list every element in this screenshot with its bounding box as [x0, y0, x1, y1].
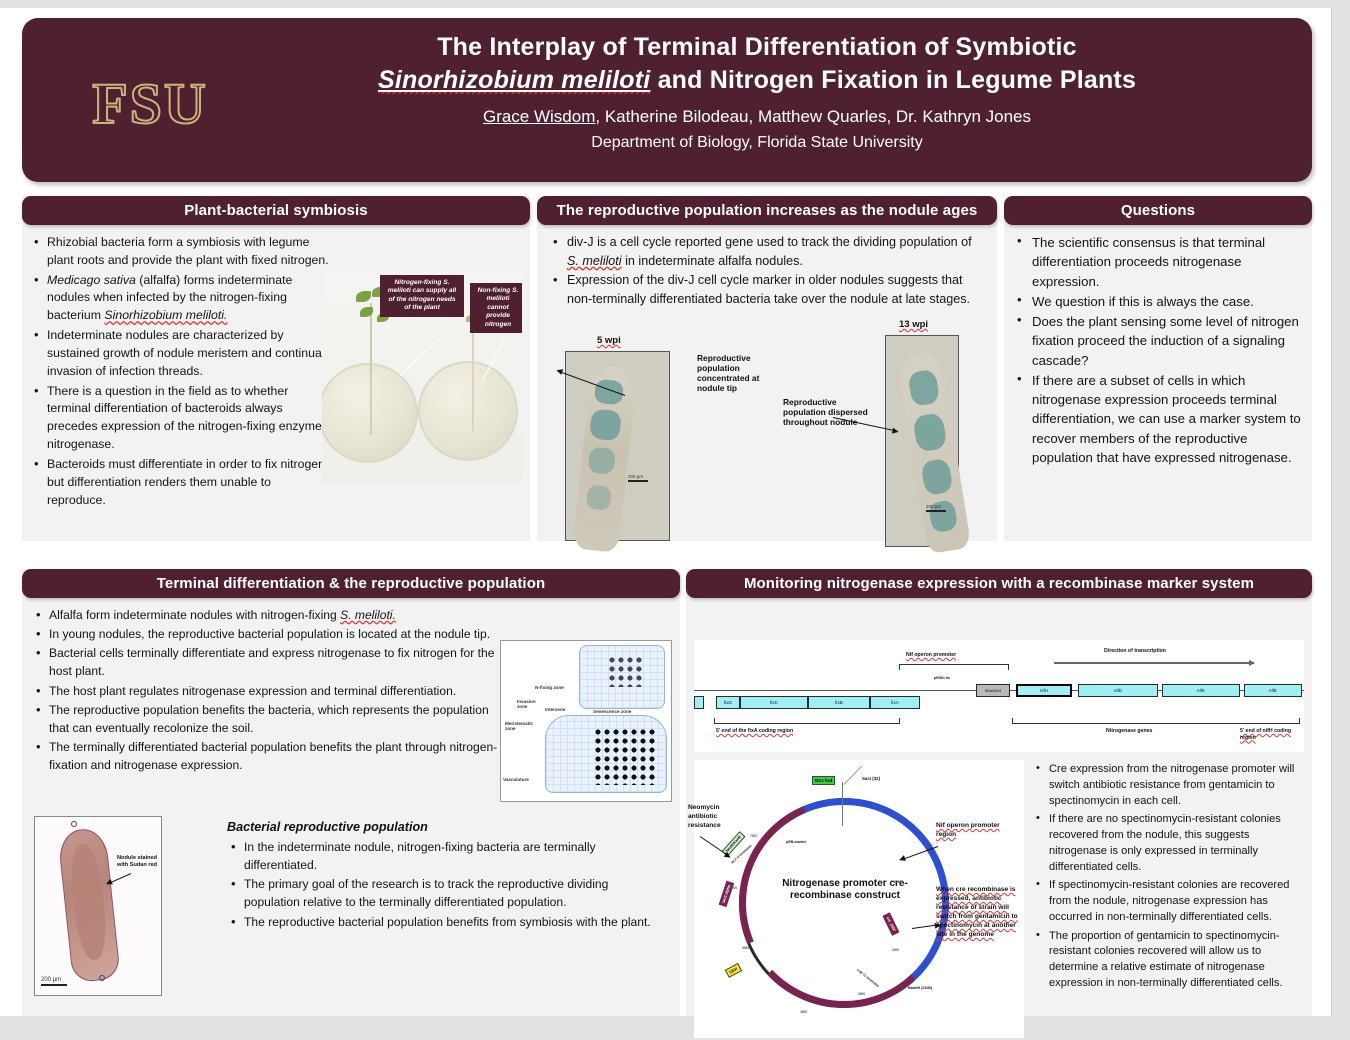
tag-bamHI: BamHI (2349)	[908, 986, 932, 991]
list-item: The primary goal of the research is to t…	[227, 875, 657, 911]
gene-box-nifE: nifE	[1244, 684, 1302, 697]
panel-plant-bacterial-symbiosis: Plant-bacterial symbiosis Rhizobial bact…	[22, 196, 530, 541]
teal-stain	[589, 408, 622, 441]
plant-root	[370, 373, 372, 435]
list-item: In young nodules, the reproductive bacte…	[32, 625, 512, 643]
panel1-body: Rhizobial bacteria form a symbiosis with…	[22, 225, 530, 517]
nitrogenase-genes-label: Nitrogenase genes	[1106, 728, 1152, 735]
poster-title-banner: FSU The Interplay of Terminal Differenti…	[22, 18, 1312, 182]
gene-box-fixB: fixB	[808, 696, 870, 709]
tag-m13-fwd: M13 fwd	[812, 776, 835, 785]
panel3-heading: Questions	[1004, 196, 1312, 225]
nif-promoter-brace	[899, 664, 1009, 670]
sacI-leader2	[844, 765, 863, 784]
plasmid-map-diagram: Nitrogenase promoter cre-recombinase con…	[694, 760, 1024, 1038]
panel5-body: Nif operon promoter Direction of transcr…	[686, 598, 1312, 612]
tick-6000: 6000	[730, 886, 737, 890]
nodule-section-13wpi	[897, 350, 972, 554]
poster-title-line2: Sinorhizobium meliloti and Nitrogen Fixa…	[222, 65, 1292, 96]
poster-page: FSU The Interplay of Terminal Differenti…	[0, 8, 1332, 1016]
scale-bar-5wpi: 200 µm	[628, 474, 648, 482]
note-neomycin-resistance: Neomycin antibiotic resistance	[688, 804, 740, 831]
list-item: div-J is a cell cycle reported gene used…	[547, 233, 987, 270]
bacteroid-dots	[609, 657, 643, 687]
callout-nitrogen-fixing: Nitrogen-fixing S. meliloti can supply a…	[380, 275, 464, 317]
panel1-heading: Plant-bacterial symbiosis	[22, 196, 530, 225]
panel1-bullet-list: Rhizobial bacteria form a symbiosis with…	[32, 234, 332, 509]
poster-title-line1: The Interplay of Terminal Differentiatio…	[222, 32, 1292, 63]
list-item: If there are a subset of cells in which …	[1014, 371, 1302, 467]
panel-recombinase-marker-system: Monitoring nitrogenase expression with a…	[686, 569, 1312, 1016]
nif-promoter-label: Nif operon promoter	[906, 652, 956, 659]
gene-box-fixG: fixG	[716, 696, 740, 709]
zone-label-n-fixing: N-fixing zone	[535, 685, 564, 690]
micrograph-group: 5 wpi 200 µm Reproductive population con…	[537, 333, 997, 568]
list-item: The host plant regulates nitrogenase exp…	[32, 682, 512, 700]
direction-of-transcription-label: Direction of transcription	[1104, 648, 1166, 655]
callout-leader-line	[400, 338, 440, 376]
scale-bar-13wpi: 200 µm	[926, 504, 946, 512]
panel4-heading: Terminal differentiation & the reproduct…	[22, 569, 680, 598]
list-item: The terminally differentiated bacterial …	[32, 738, 512, 774]
marker-circle	[99, 975, 105, 981]
list-item: The proportion of gentamicin to spectino…	[1032, 929, 1304, 992]
zone-label-invasion: Invasion zone	[517, 699, 545, 709]
affiliation: Department of Biology, Florida State Uni…	[222, 134, 1292, 152]
gene-box-fixC: fixC	[740, 696, 808, 709]
tick-2000: 2000	[892, 948, 899, 952]
pRG61-label: pRG61 fw	[934, 676, 950, 680]
panel5-bullet-block: Cre expression from the nitrogenase prom…	[1032, 762, 1304, 995]
list-item: Medicago sativa (alfalfa) forms indeterm…	[32, 272, 332, 325]
bacterial-reproductive-population-block: Bacterial reproductive population In the…	[227, 820, 657, 932]
list-item: The reproductive population benefits the…	[32, 701, 512, 737]
nonfixing-plant-root	[472, 321, 474, 431]
panel-terminal-differentiation: Terminal differentiation & the reproduct…	[22, 569, 680, 1016]
panel3-bullet-list: The scientific consensus is that termina…	[1014, 233, 1302, 467]
gene-box-sma0024: SMa0024	[976, 684, 1010, 697]
label-13wpi: 13 wpi	[899, 319, 928, 330]
panel2-body: div-J is a cell cycle reported gene used…	[537, 225, 997, 316]
fsu-logo: FSU	[80, 70, 220, 136]
panel-questions: Questions The scientific consensus is th…	[1004, 196, 1312, 541]
list-item: The reproductive bacterial population be…	[227, 913, 657, 931]
list-item: There is a question in the field as to w…	[32, 383, 332, 454]
label-5wpi: 5 wpi	[597, 335, 621, 346]
zone-label-senescence: Senescence zone	[593, 709, 631, 714]
list-item: If there are no spectinomycin-resistant …	[1032, 812, 1304, 875]
fixA-region-brace	[714, 718, 900, 724]
tick-5000: 5000	[742, 946, 749, 950]
note-cre-switch: When cre recombinase is expressed, antib…	[936, 886, 1018, 940]
list-item: Rhizobial bacteria form a symbiosis with…	[32, 234, 332, 270]
panel5-heading: Monitoring nitrogenase expression with a…	[686, 569, 1312, 598]
micrograph-13wpi: 200 µm	[885, 335, 959, 547]
stained-nodule	[57, 827, 121, 983]
list-item: Bacterial cells terminally differentiate…	[32, 644, 512, 680]
list-item: Does the plant sensing some level of nit…	[1014, 312, 1302, 370]
gene-box-nifK: nifK	[1162, 684, 1240, 697]
nifH-region-label: 5' end of nifH coding region	[1240, 728, 1302, 741]
panel2-heading: The reproductive population increases as…	[537, 196, 997, 225]
teal-stain	[586, 484, 612, 510]
gene-box-partial	[694, 696, 704, 709]
marker-circle	[71, 821, 77, 827]
zone-label-interzone: Interzone	[545, 707, 565, 712]
tag-gfp: GFP	[725, 963, 742, 978]
scale-bar-stain: 200 µm	[41, 977, 67, 986]
fixA-region-label: 5' end of the fixA coding region	[716, 728, 802, 735]
panel4-body: Alfalfa form indeterminate nodules with …	[22, 598, 680, 781]
zone-label-vasculature: Vasculature	[503, 777, 529, 782]
note-nif-promoter-region: Nif operon promoter region	[936, 822, 1006, 840]
panel4-sub-bullet-list: In the indeterminate nodule, nitrogen-fi…	[227, 838, 657, 931]
gene-box-nifH: nifH	[1016, 684, 1072, 697]
list-item: In the indeterminate nodule, nitrogen-fi…	[227, 838, 657, 874]
plasmid-center-title: Nitrogenase promoter cre-recombinase con…	[782, 878, 908, 902]
gene-box-fixA: fixA	[870, 696, 920, 709]
panel2-bullet-list: div-J is a cell cycle reported gene used…	[547, 233, 987, 309]
bacteroid-dots	[595, 729, 657, 785]
tick-3000: 3000	[858, 992, 865, 996]
leaf	[356, 291, 371, 302]
tag-sacI: SacI (32)	[862, 776, 880, 782]
sudan-red-nodule-image: Nodule stained with Sudan red 200 µm	[34, 816, 162, 996]
petri-dish-right	[418, 361, 518, 461]
nodule-zone-diagram: N-fixing zone Invasion zone Interzone Me…	[500, 640, 672, 802]
list-item: The scientific consensus is that termina…	[1014, 233, 1302, 291]
sudan-red-arrow	[107, 873, 131, 884]
tag-peb-marker: pEB-marker	[786, 840, 806, 844]
nif-operon-gene-map: Nif operon promoter Direction of transcr…	[694, 640, 1304, 752]
list-item: Bacteroids must differentiate in order t…	[32, 456, 332, 509]
panel5-bullet-list: Cre expression from the nitrogenase prom…	[1032, 762, 1304, 992]
list-item: Cre expression from the nitrogenase prom…	[1032, 762, 1304, 809]
list-item: Expression of the div-J cell cycle marke…	[547, 271, 987, 308]
zone-label-meristematic: Meristematic zone	[505, 721, 535, 731]
list-item: If spectinomycin-resistant colonies are …	[1032, 878, 1304, 925]
caption-5wpi: Reproductive population concentrated at …	[697, 353, 779, 393]
teal-stain	[920, 458, 953, 496]
tick-1000: 1000	[894, 880, 901, 884]
transcription-direction-arrow	[1054, 662, 1254, 664]
panel3-body: The scientific consensus is that termina…	[1004, 225, 1312, 474]
teal-stain	[907, 369, 940, 407]
presenting-author: Grace Wisdom	[483, 107, 595, 126]
gene-box-nifD: nifD	[1078, 684, 1158, 697]
list-item: We question if this is always the case.	[1014, 292, 1302, 311]
title-block: The Interplay of Terminal Differentiatio…	[222, 32, 1292, 152]
list-item: Alfalfa form indeterminate nodules with …	[32, 606, 512, 624]
nodule-section-5wpi	[572, 364, 637, 553]
title-species-name: Sinorhizobium meliloti	[378, 66, 650, 94]
teal-stain	[912, 412, 947, 452]
sudan-red-caption: Nodule stained with Sudan red	[117, 855, 161, 868]
seedling-petri-dish-photo: Nitrogen-fixing S. meliloti can supply a…	[322, 269, 522, 484]
nodule-core	[68, 843, 110, 962]
teal-stain	[587, 446, 616, 475]
callout-non-fixing: Non-fixing S. meliloti cannot provide ni…	[470, 283, 522, 333]
panel-reproductive-population: The reproductive population increases as…	[537, 196, 997, 541]
tag-lacz-alpha: lacZ-alpha	[719, 881, 734, 907]
sub-heading: Bacterial reproductive population	[227, 820, 657, 834]
sacI-leader	[842, 782, 843, 826]
coauthors: , Katherine Bilodeau, Matthew Quarles, D…	[595, 107, 1031, 126]
list-item: Indeterminate nodules are characterized …	[32, 327, 332, 380]
tick-4000: 4000	[800, 1010, 807, 1014]
author-list: Grace Wisdom, Katherine Bilodeau, Matthe…	[222, 107, 1292, 127]
nitrogenase-genes-brace	[1012, 718, 1300, 724]
panel4-bullet-list: Alfalfa form indeterminate nodules with …	[32, 606, 512, 774]
tick-7000: 7000	[750, 834, 757, 838]
title-line2-rest: and Nitrogen Fixation in Legume Plants	[650, 66, 1136, 94]
